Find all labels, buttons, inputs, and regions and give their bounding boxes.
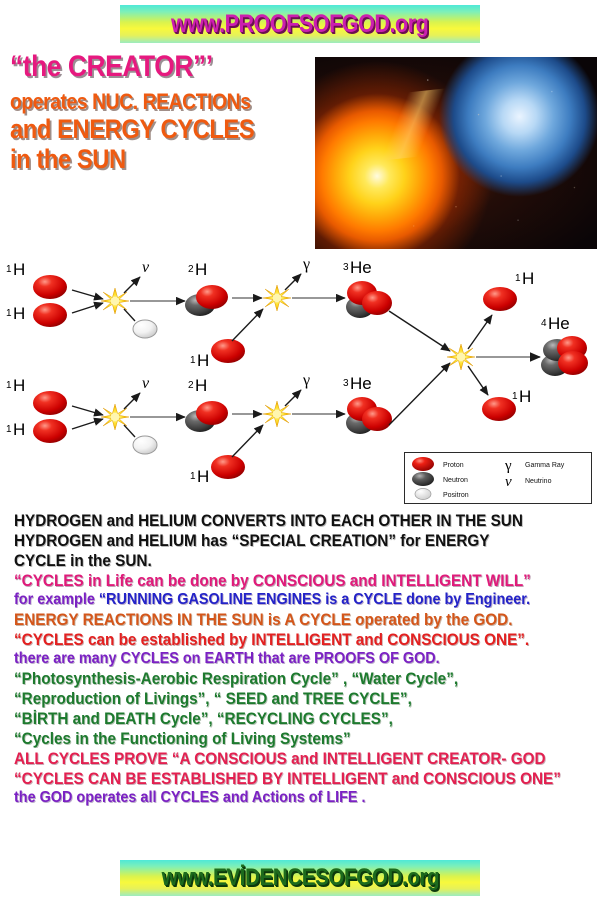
proton-particle [33, 275, 67, 299]
title-line-in-the-sun: in the SUN [10, 146, 274, 173]
particle-legend: Proton Neutron Positron γ Gamma Ray ν Ne… [404, 452, 592, 504]
deuterium-nucleus [185, 285, 228, 316]
legend-label-neutrino: Neutrino [525, 478, 552, 485]
title-line-reactions: operates NUC. REACTIONs [10, 91, 274, 113]
element-h-1b: H [13, 304, 25, 323]
positron-dot [415, 489, 431, 500]
mass-number-2: 2 [188, 264, 194, 275]
element-h-2: H [195, 260, 207, 279]
neutrino-label: ν [142, 259, 150, 276]
mass-number-1: 1 [6, 264, 12, 275]
legend-label-gamma-ray: Gamma Ray [525, 462, 565, 469]
top-banner-text: www.PROOFSOFGOD.org [171, 10, 428, 39]
proton-particle [33, 391, 67, 415]
text-line-15: the GOD operates all CYCLES and Actions … [14, 790, 536, 806]
bottom-banner-text: www.EVİDENCESOFGOD.org [161, 864, 439, 892]
element-h-1b: H [13, 420, 25, 439]
proton-particle [33, 419, 67, 443]
top-banner: www.PROOFSOFGOD.org [120, 5, 480, 43]
positron-particle [133, 320, 157, 338]
text-line-2: HYDROGEN and HELIUM has “SPECIAL CREATIO… [14, 532, 536, 549]
mass-number-1d: 1 [515, 273, 521, 284]
text-line-9: “Photosynthesis-Aerobic Respiration Cycl… [14, 670, 536, 687]
element-he-4: He [548, 314, 570, 333]
solar-flare [351, 86, 476, 163]
mass-number-1b: 1 [6, 308, 12, 319]
element-h-1: H [13, 376, 25, 395]
neutrino-symbol: ν [505, 474, 512, 490]
title-block: “the CREATOR”’ operates NUC. REACTIONs a… [10, 52, 310, 173]
element-he-3: He [350, 258, 372, 277]
gamma-symbol: γ [504, 458, 512, 474]
deuterium-nucleus [185, 401, 228, 432]
mass-number-1: 1 [6, 380, 12, 391]
element-h-2: H [195, 376, 207, 395]
text-line-7: “CYCLES can be established by INTELLIGEN… [14, 631, 536, 648]
text-line-4: “CYCLES in Life can be done by CONSCIOUS… [14, 572, 536, 589]
text-line-5-prefix: for example [14, 591, 99, 608]
text-line-14: “CYCLES CAN BE ESTABLISHED BY INTELLIGEN… [14, 770, 536, 787]
element-h-1e: H [519, 387, 531, 406]
title-line-creator: “the CREATOR”’ [10, 52, 274, 82]
text-line-12: “Cycles in the Functioning of Living Sys… [14, 730, 536, 747]
text-line-8: there are many CYCLES on EARTH that are … [14, 651, 536, 667]
mass-number-3: 3 [343, 262, 349, 273]
text-line-6: ENERGY REACTIONS IN THE SUN is A CYCLE o… [14, 611, 536, 628]
sun-and-earth-photo [315, 57, 597, 249]
element-h-1c: H [197, 351, 209, 370]
mass-number-3: 3 [343, 378, 349, 389]
text-line-5: for example “RUNNING GASOLINE ENGINES is… [14, 592, 536, 608]
neutrino-label: ν [142, 375, 150, 392]
element-he-3: He [350, 374, 372, 393]
bottom-banner: www.EVİDENCESOFGOD.org [120, 860, 480, 896]
proton-particle [211, 455, 245, 479]
legend-label-positron: Positron [443, 492, 469, 499]
body-text-block: HYDROGEN and HELIUM CONVERTS INTO EACH O… [14, 512, 594, 809]
helium4-nucleus [541, 336, 588, 376]
element-h-1d: H [522, 269, 534, 288]
text-line-11: “BİRTH and DEATH Cycle”, “RECYCLING CYCL… [14, 710, 536, 727]
text-line-13: ALL CYCLES PROVE “A CONSCIOUS and INTELL… [14, 750, 536, 767]
mass-number-1c: 1 [190, 355, 196, 366]
helium3-nucleus [346, 397, 392, 434]
gamma-label: γ [302, 256, 310, 273]
text-line-3: CYCLE in the SUN. [14, 552, 536, 569]
title-line-energy-cycles: and ENERGY CYCLES [10, 116, 274, 143]
legend-label-neutron: Neutron [443, 477, 468, 484]
proton-particle [211, 339, 245, 363]
element-h-1: H [13, 260, 25, 279]
proton-particle [33, 303, 67, 327]
text-line-1: HYDROGEN and HELIUM CONVERTS INTO EACH O… [14, 512, 536, 529]
positron-particle [133, 436, 157, 454]
mass-number-1c: 1 [190, 471, 196, 482]
text-line-5-quote: “RUNNING GASOLINE ENGINES is a CYCLE don… [99, 591, 530, 608]
legend-label-proton: Proton [443, 462, 464, 469]
text-line-10: “Reproduction of Livings”, “ SEED and TR… [14, 690, 536, 707]
element-h-1c: H [197, 467, 209, 486]
proton-particle [482, 397, 516, 421]
mass-number-2: 2 [188, 380, 194, 391]
mass-number-1b: 1 [6, 424, 12, 435]
proton-dot [412, 457, 434, 471]
gamma-label: γ [302, 372, 310, 389]
helium3-nucleus [346, 281, 392, 318]
proton-particle [483, 287, 517, 311]
final-fusion-star [447, 344, 475, 370]
mass-number-4: 4 [541, 318, 547, 329]
neutron-dot [412, 472, 434, 486]
mass-number-1e: 1 [512, 391, 518, 402]
